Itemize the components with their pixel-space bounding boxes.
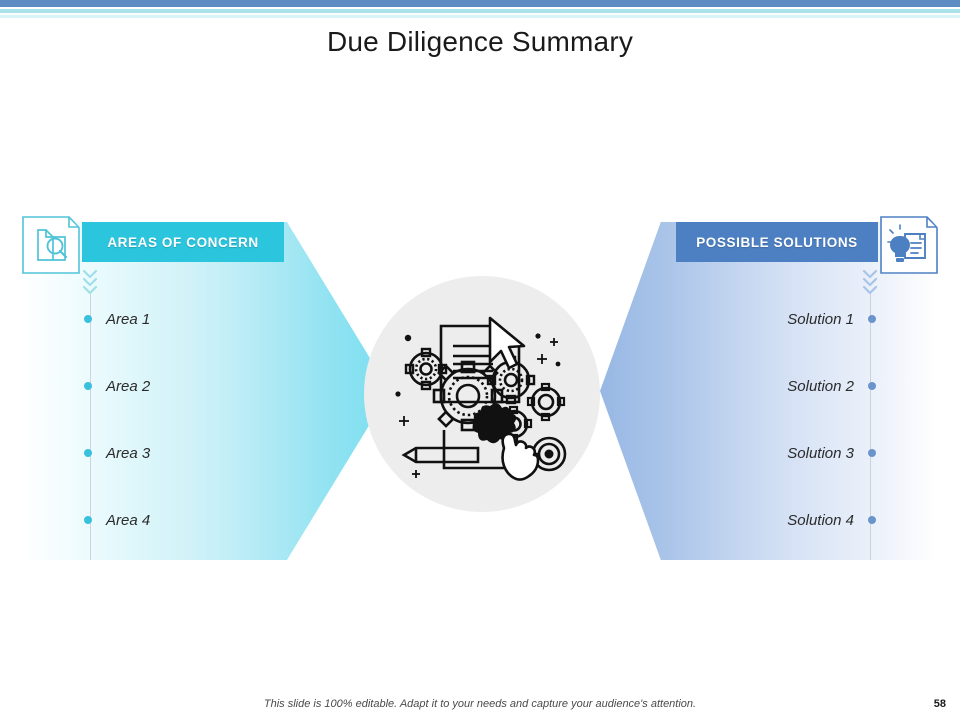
top-band-cyan	[0, 9, 960, 13]
list-item[interactable]: Solution 3	[787, 444, 876, 462]
list-item[interactable]: Area 4	[84, 511, 150, 529]
footer-note: This slide is 100% editable. Adapt it to…	[0, 698, 960, 710]
list-item-label: Solution 1	[787, 311, 854, 328]
right-header-label: POSSIBLE SOLUTIONS	[696, 235, 858, 250]
document-search-icon-box[interactable]	[22, 216, 80, 274]
page-title: Due Diligence Summary	[0, 26, 960, 58]
right-triple-chevron-down-icon	[862, 268, 878, 294]
bullet-dot-icon	[868, 382, 876, 390]
list-item-label: Solution 3	[787, 445, 854, 462]
left-header-label: AREAS OF CONCERN	[107, 235, 258, 250]
bullet-dot-icon	[84, 315, 92, 323]
list-item[interactable]: Area 2	[84, 377, 150, 395]
list-item-label: Area 4	[106, 512, 150, 529]
top-band-cyan-light	[0, 15, 960, 18]
list-item[interactable]: Area 3	[84, 444, 150, 462]
list-item[interactable]: Solution 1	[787, 310, 876, 328]
list-item[interactable]: Solution 4	[787, 511, 876, 529]
bullet-dot-icon	[868, 315, 876, 323]
list-item-label: Area 1	[106, 311, 150, 328]
bullet-dot-icon	[84, 516, 92, 524]
list-item[interactable]: Area 1	[84, 310, 150, 328]
lightbulb-checklist-icon-box[interactable]	[880, 216, 938, 274]
right-header-bar[interactable]: POSSIBLE SOLUTIONS	[676, 222, 878, 262]
list-item-label: Solution 2	[787, 378, 854, 395]
left-header-bar[interactable]: AREAS OF CONCERN	[82, 222, 284, 262]
bullet-dot-icon	[868, 516, 876, 524]
slide-canvas: Due Diligence Summary	[0, 0, 960, 720]
bullet-dot-icon	[84, 382, 92, 390]
gears-document-illustration	[386, 298, 578, 490]
list-item-label: Area 2	[106, 378, 150, 395]
bullet-dot-icon	[868, 449, 876, 457]
page-number: 58	[934, 698, 946, 710]
lightbulb-checklist-icon	[880, 216, 938, 274]
left-triple-chevron-down-icon	[82, 268, 98, 294]
list-item-label: Area 3	[106, 445, 150, 462]
list-item-label: Solution 4	[787, 512, 854, 529]
top-band-blue	[0, 0, 960, 7]
list-item[interactable]: Solution 2	[787, 377, 876, 395]
bullet-dot-icon	[84, 449, 92, 457]
document-search-icon	[22, 216, 80, 274]
